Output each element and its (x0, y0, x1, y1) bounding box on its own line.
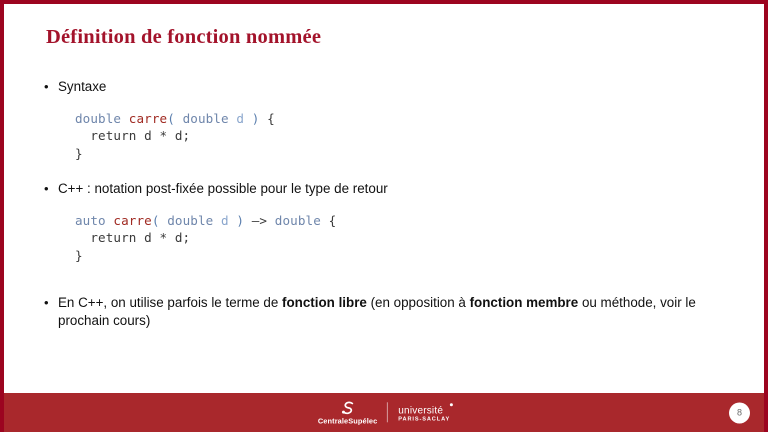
bullet-notation-postfixee: • C++ : notation post-fixée possible pou… (44, 180, 716, 198)
code-return-type: double (275, 213, 321, 228)
bullet-marker-icon: • (44, 180, 58, 198)
bullet-marker-icon: • (44, 294, 58, 312)
code-open-brace: { (259, 111, 274, 126)
code-line-1: double carre( double d ) { (75, 111, 275, 126)
code-param-name: d (221, 213, 229, 228)
centralesupelec-logo: CentraleSupélec (318, 401, 377, 424)
page-number-badge: 8 (729, 402, 750, 423)
code-function-name: carre (129, 111, 167, 126)
code-line-2: return d * d; (75, 128, 190, 143)
code-open-paren: ( (152, 213, 167, 228)
bullet-marker-icon: • (44, 78, 58, 96)
code-space (121, 111, 129, 126)
code-line-2: return d * d; (75, 230, 190, 245)
text-part-2: (en opposition à (367, 295, 470, 310)
spark-icon (450, 403, 453, 406)
code-open-brace: { (321, 213, 336, 228)
spacer (44, 198, 716, 212)
universite-label: université (398, 406, 450, 416)
paris-saclay-label: PARIS-SACLAY (398, 417, 450, 423)
spacer (44, 264, 716, 294)
slide: Définition de fonction nommée • Syntaxe … (0, 0, 768, 432)
code-space (213, 213, 221, 228)
bullet-fonction-libre: • En C++, on utilise parfois le terme de… (44, 294, 716, 329)
emphasis-fonction-membre: fonction membre (470, 295, 579, 310)
code-block-syntaxe: double carre( double d ) { return d * d;… (75, 110, 716, 163)
code-close-paren: ) (229, 213, 244, 228)
slide-footer: CentraleSupélec université PARIS-SACLAY … (4, 393, 764, 432)
bullet-notation-postfixee-label: C++ : notation post-fixée possible pour … (58, 180, 716, 198)
logo-group: CentraleSupélec université PARIS-SACLAY (318, 401, 450, 424)
code-line-3: } (75, 146, 83, 161)
code-param-type: double (183, 111, 229, 126)
spacer (44, 162, 716, 180)
bullet-fonction-libre-label: En C++, on utilise parfois le terme de f… (58, 294, 716, 329)
bullet-syntaxe: • Syntaxe (44, 78, 716, 96)
universite-paris-saclay-logo: université PARIS-SACLAY (398, 402, 450, 423)
spacer (44, 96, 716, 110)
code-function-name: carre (113, 213, 151, 228)
code-return-arrow: –> (244, 213, 275, 228)
logo-divider (387, 403, 388, 423)
code-open-paren: ( (167, 111, 182, 126)
slide-body: • Syntaxe double carre( double d ) { ret… (44, 78, 716, 329)
centralesupelec-label: CentraleSupélec (318, 417, 377, 424)
code-line-1: auto carre( double d ) –> double { (75, 213, 336, 228)
text-part-1: En C++, on utilise parfois le terme de (58, 295, 282, 310)
code-line-3: } (75, 248, 83, 263)
code-keyword-double: double (75, 111, 121, 126)
emphasis-fonction-libre: fonction libre (282, 295, 367, 310)
page-title: Définition de fonction nommée (46, 26, 321, 49)
code-block-trailing-return: auto carre( double d ) –> double { retur… (75, 212, 716, 265)
code-param-type: double (167, 213, 213, 228)
bullet-syntaxe-label: Syntaxe (58, 78, 716, 96)
code-param-name: d (236, 111, 244, 126)
swirl-icon (337, 401, 359, 415)
code-close-paren: ) (244, 111, 259, 126)
code-keyword-auto: auto (75, 213, 106, 228)
